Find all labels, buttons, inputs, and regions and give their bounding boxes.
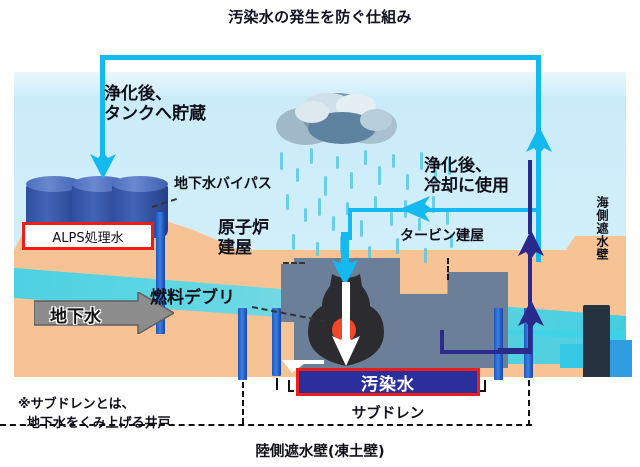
land-side-wall-label: 陸側遮水壁(凍土壁) (0, 440, 640, 461)
subdrain-bracket-right (484, 380, 486, 392)
fuel-debris-label: 燃料デブリ (150, 288, 235, 308)
contaminated-water-downflow-arrow-icon (332, 282, 360, 368)
reactor-building-label: 原子炉 建屋 (218, 218, 269, 258)
subdrain-well (272, 308, 281, 376)
sea-water-block (610, 340, 632, 377)
sea-side-wall-label: 海側遮水壁 (594, 196, 611, 261)
cooling-feed-pipe-vertical (348, 208, 352, 240)
cooling-use-arrow-icon (400, 196, 432, 222)
page-title: 汚染水の発生を防ぐ仕組み (0, 6, 640, 27)
contaminated-water-text: 汚染水 (361, 370, 415, 395)
rain-cloud-icon (272, 86, 400, 148)
subdrain-riser-top (528, 160, 532, 234)
groundwater-bypass-label: 地下水バイパス (174, 176, 272, 193)
alps-treated-water-label: ALPS処理水 (22, 222, 154, 250)
cooling-water-injection-arrow-icon (332, 232, 358, 288)
cooling-feed-pipe-horizontal (348, 208, 538, 212)
subdrain-label: サブドレン (286, 402, 490, 423)
subdrain-pump-arrow-upper-icon (518, 230, 544, 260)
subdrain-leader-right-well (528, 380, 530, 426)
contaminated-water-label: 汚染水 (296, 368, 480, 396)
subdrain-well (238, 308, 247, 380)
subdrain-well (494, 308, 503, 380)
reactor-building-leader (283, 262, 305, 264)
purified-storage-label: 浄化後、 タンクへ貯蔵 (104, 84, 206, 124)
diagram-canvas: 汚染水の発生を防ぐ仕組み (0, 0, 640, 467)
turbine-building-leader (447, 258, 449, 280)
purified-cooling-label: 浄化後、 冷却に使用 (424, 156, 509, 196)
turbine-building-label: タービン建屋 (400, 228, 484, 245)
subdrain-bracket-left (288, 380, 290, 392)
subdrain-leader-mid-well (276, 378, 278, 390)
sea-side-impermeable-wall (583, 305, 610, 377)
tank-fill-arrow-icon (90, 152, 116, 180)
groundwater-label: 地下水 (50, 302, 101, 327)
subdrain-collector-vertical (440, 330, 444, 352)
subdrain-footnote: ※サブドレンとは、 地下水をくみ上げる井戸 (18, 396, 171, 434)
subdrain-collector-horizontal (440, 350, 532, 354)
purified-water-pipe-top (100, 55, 540, 60)
subdrain-leader-left-well (242, 382, 244, 424)
